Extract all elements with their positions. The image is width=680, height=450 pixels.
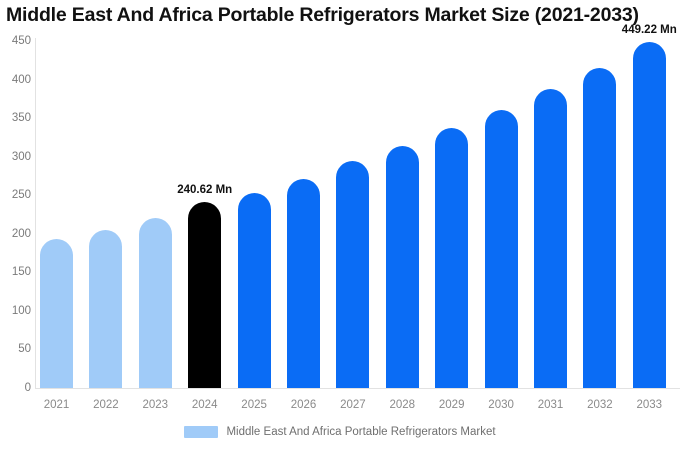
bar[interactable]: [435, 128, 468, 388]
bar-column[interactable]: [583, 68, 616, 388]
legend-item[interactable]: Middle East And Africa Portable Refriger…: [184, 425, 495, 439]
legend-color-swatch: [184, 426, 218, 438]
bar[interactable]: [139, 218, 172, 388]
bar-column[interactable]: [485, 110, 518, 388]
bar-value-label: 240.62 Mn: [177, 184, 232, 197]
y-axis-tick-label: 400: [1, 74, 31, 86]
bar[interactable]: [583, 68, 616, 388]
chart-legend: Middle East And Africa Portable Refriger…: [0, 425, 680, 439]
bar-column[interactable]: [336, 161, 369, 388]
bar-column[interactable]: [139, 218, 172, 388]
chart-title: Middle East And Africa Portable Refriger…: [6, 2, 639, 28]
y-axis-tick-label: 0: [1, 382, 31, 394]
bar-column[interactable]: [40, 239, 73, 388]
bar-column[interactable]: 449.22 Mn: [633, 42, 666, 388]
bar-column[interactable]: [534, 89, 567, 388]
chart-container: Middle East And Africa Portable Refriger…: [0, 0, 680, 450]
y-axis-tick-label: 450: [1, 35, 31, 47]
y-axis-tick-label: 350: [1, 112, 31, 124]
x-axis-line: [35, 388, 680, 389]
x-axis-tick-label: 2033: [619, 398, 679, 412]
legend-item-label: Middle East And Africa Portable Refriger…: [226, 425, 495, 439]
bar[interactable]: [336, 161, 369, 388]
y-axis-tick-label: 300: [1, 151, 31, 163]
bar-column[interactable]: [238, 193, 271, 388]
bar-column[interactable]: [89, 230, 122, 388]
bar[interactable]: [633, 42, 666, 388]
y-axis: 050100150200250300350400450: [0, 0, 31, 450]
y-axis-tick-label: 100: [1, 305, 31, 317]
bar-column[interactable]: [386, 146, 419, 388]
y-axis-tick-label: 200: [1, 228, 31, 240]
y-axis-tick-label: 250: [1, 189, 31, 201]
bar[interactable]: [40, 239, 73, 388]
bar[interactable]: [188, 202, 221, 388]
bar[interactable]: [89, 230, 122, 388]
y-axis-tick-label: 150: [1, 266, 31, 278]
bar[interactable]: [386, 146, 419, 388]
bar-column[interactable]: 240.62 Mn: [188, 202, 221, 388]
bar[interactable]: [485, 110, 518, 388]
bar[interactable]: [238, 193, 271, 388]
bar-value-label: 449.22 Mn: [622, 24, 677, 37]
bar-column[interactable]: [287, 179, 320, 388]
bar[interactable]: [534, 89, 567, 388]
bar-column[interactable]: [435, 128, 468, 388]
bar[interactable]: [287, 179, 320, 388]
y-axis-tick-label: 50: [1, 343, 31, 355]
